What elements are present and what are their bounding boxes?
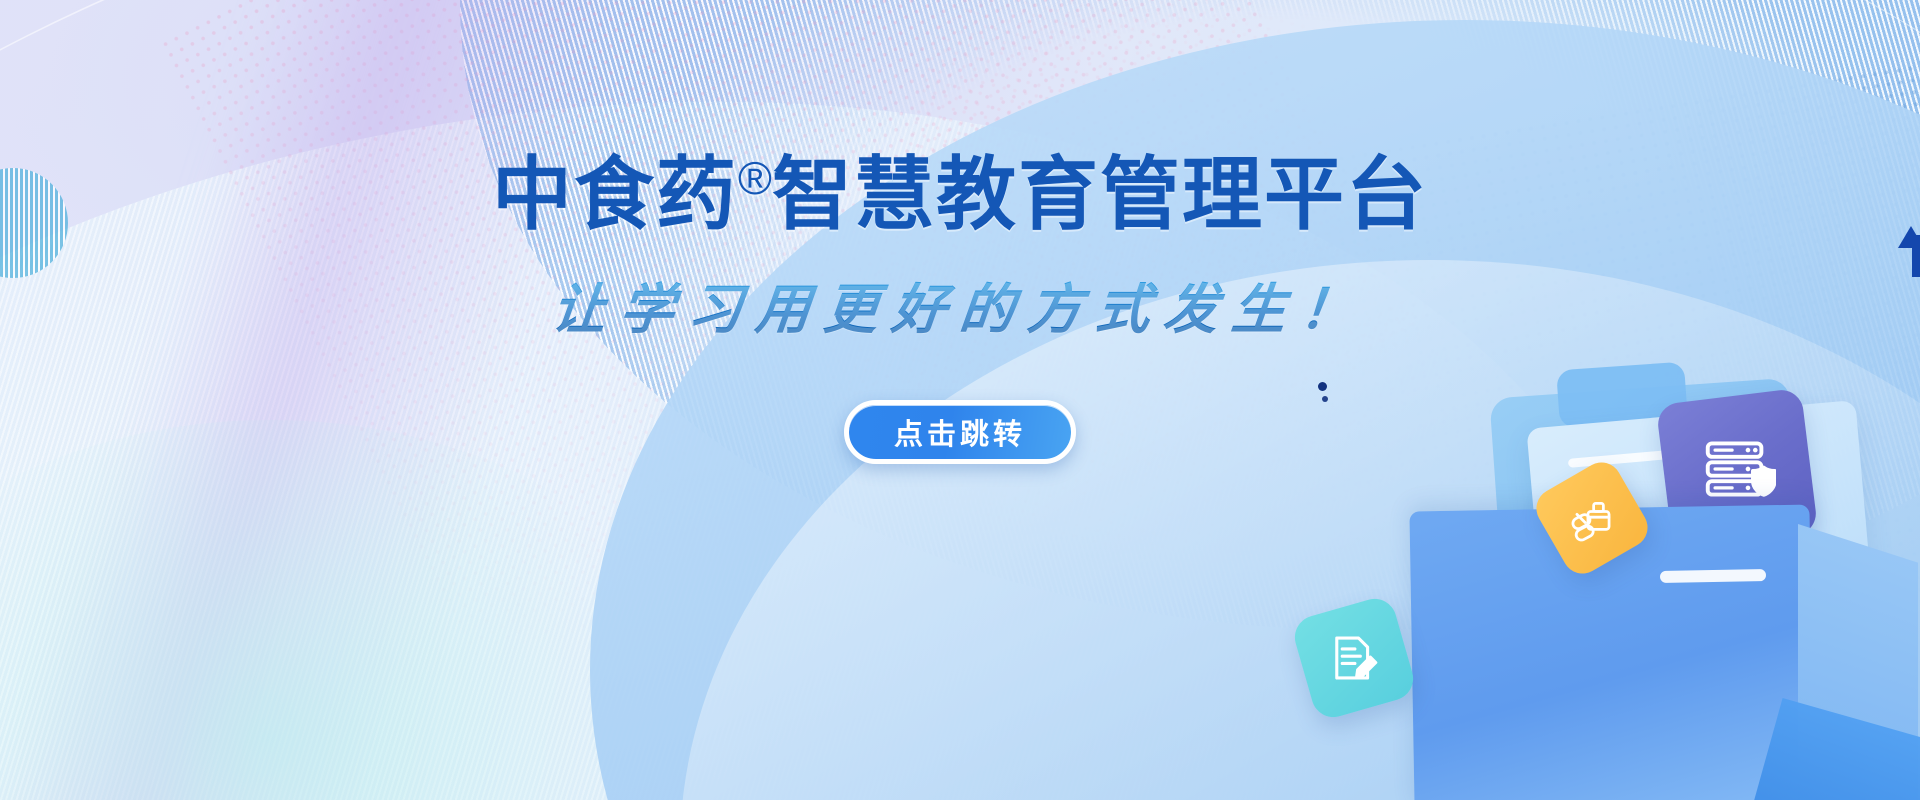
page-title-rest: 智慧教育管理平台 — [772, 150, 1428, 239]
hero-banner: 中食药®智慧教育管理平台 让学习用更好的方式发生！ 点击跳转 — [0, 0, 1920, 800]
page-title: 中食药®智慧教育管理平台 — [492, 152, 1428, 238]
main-panel-line — [1660, 569, 1766, 583]
pills-icon — [1556, 482, 1627, 553]
document-pencil-icon — [1318, 622, 1390, 694]
document-edit-tile — [1290, 594, 1419, 723]
jump-button[interactable]: 点击跳转 — [844, 400, 1076, 464]
navy-dot-icon — [1318, 382, 1327, 391]
page-title-brand: 中食药 — [492, 150, 738, 239]
hero-illustration — [1300, 380, 1920, 800]
registered-trademark-icon: ® — [738, 152, 772, 204]
database-shield-icon — [1694, 426, 1781, 513]
navy-dot-small-icon — [1322, 396, 1328, 402]
page-subtitle: 让学习用更好的方式发生！ — [549, 280, 1371, 339]
cta-container: 点击跳转 — [844, 400, 1076, 464]
